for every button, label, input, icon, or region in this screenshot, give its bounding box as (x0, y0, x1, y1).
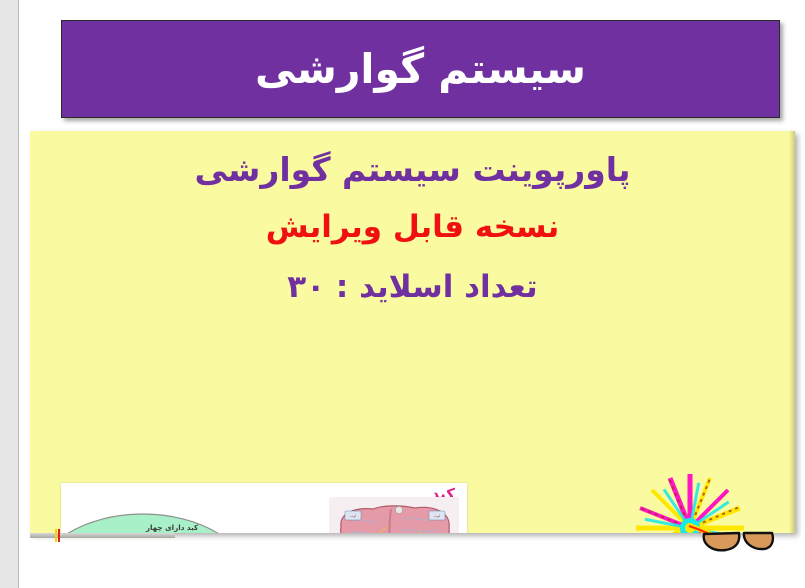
headline-product: پاورپوینت سیستم گوارشی (30, 149, 795, 191)
ruler-bar (30, 533, 175, 538)
headline-slide-count: تعداد اسلاید : ۳۰ (30, 268, 795, 308)
svg-text:لوب: لوب (350, 514, 356, 518)
firework-icon (630, 468, 750, 533)
content-panel: پاورپوینت سیستم گوارشی نسخه قابل ویرایش … (30, 131, 795, 533)
shoes-icon (700, 530, 776, 556)
ruler-mark-icon (55, 529, 60, 542)
title-banner: سیستم گوارشی (61, 20, 780, 118)
slide-page: سیستم گوارشی پاورپوینت سیستم گوارشی نسخه… (0, 0, 805, 588)
left-gutter-strip (0, 0, 19, 588)
page-title: سیستم گوارشی (255, 49, 586, 90)
headline-editable-badge: نسخه قابل ویرایش (30, 208, 795, 248)
svg-text:لوب: لوب (434, 514, 440, 518)
headline-block: پاورپوینت سیستم گوارشی نسخه قابل ویرایش … (30, 149, 795, 308)
slide-thumbnail-liver[interactable]: کبد کبد دارای چهار قسمت یا لوب وزن کبد ۱… (61, 483, 467, 533)
venn-label-lobes: کبد دارای چهار قسمت یا لوب (117, 523, 227, 533)
liver-anatomy-image: لوب لوب کیسه سیاهرگ کیسه مجرای (329, 497, 459, 533)
